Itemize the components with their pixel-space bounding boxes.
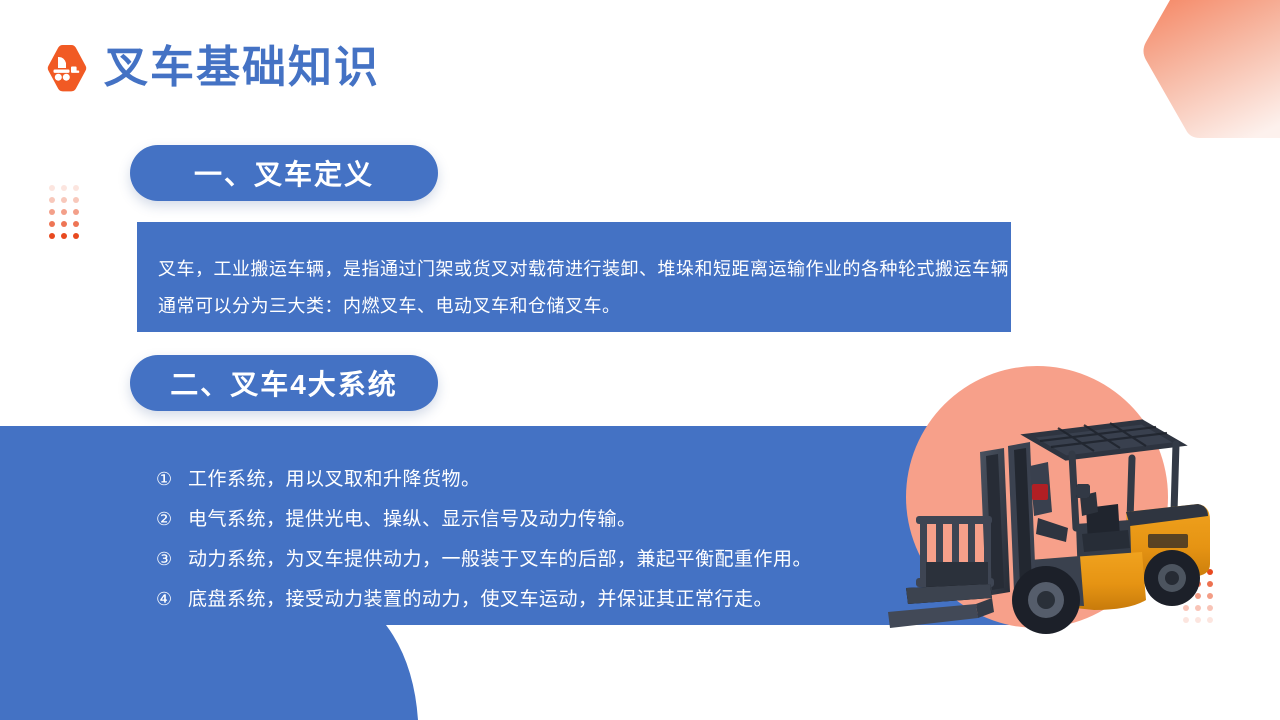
- list-item-label: 电气系统，提供光电、操纵、显示信号及动力传输。: [188, 504, 637, 531]
- definition-line-2: 通常可以分为三大类：内燃叉车、电动叉车和仓储叉车。: [158, 288, 1011, 325]
- list-marker: ①: [156, 469, 188, 490]
- hexagon-decoration-icon: [1126, 0, 1280, 150]
- definition-line-1: 叉车，工业搬运车辆，是指通过门架或货叉对载荷进行装卸、堆垛和短距离运输作业的各种…: [158, 251, 1011, 288]
- slide-canvas: 叉车基础知识 一、叉车定义 叉车，工业搬运车辆，是指通过门架或货叉对载荷进行装卸…: [0, 0, 1280, 720]
- list-marker: ④: [156, 589, 188, 610]
- section-heading-1[interactable]: 一、叉车定义: [130, 145, 438, 201]
- definition-paragraph: 叉车，工业搬运车辆，是指通过门架或货叉对载荷进行装卸、堆垛和短距离运输作业的各种…: [158, 251, 1011, 325]
- list-item-label: 工作系统，用以叉取和升降货物。: [188, 464, 481, 491]
- systems-list: ① 工作系统，用以叉取和升降货物。 ② 电气系统，提供光电、操纵、显示信号及动力…: [156, 464, 812, 624]
- list-item: ④ 底盘系统，接受动力装置的动力，使叉车运动，并保证其正常行走。: [156, 584, 812, 624]
- section-body-2: ① 工作系统，用以叉取和升降货物。 ② 电气系统，提供光电、操纵、显示信号及动力…: [0, 426, 1012, 720]
- forklift-hexagon-icon: [42, 44, 90, 92]
- list-marker: ③: [156, 549, 188, 570]
- list-item: ② 电气系统，提供光电、操纵、显示信号及动力传输。: [156, 504, 812, 544]
- dot-grid-right: [1180, 566, 1216, 626]
- section-heading-2-label: 二、叉车4大系统: [170, 363, 398, 403]
- list-item: ① 工作系统，用以叉取和升降货物。: [156, 464, 812, 504]
- section-heading-1-label: 一、叉车定义: [194, 153, 374, 193]
- page-title: 叉车基础知识: [104, 46, 380, 90]
- list-item-label: 动力系统，为叉车提供动力，一般装于叉车的后部，兼起平衡配重作用。: [188, 544, 812, 571]
- list-marker: ②: [156, 509, 188, 530]
- section-heading-2[interactable]: 二、叉车4大系统: [130, 355, 438, 411]
- list-item-label: 底盘系统，接受动力装置的动力，使叉车运动，并保证其正常行走。: [188, 584, 773, 611]
- slide-header: 叉车基础知识: [42, 44, 380, 92]
- section-body-1: 叉车，工业搬运车辆，是指通过门架或货叉对载荷进行装卸、堆垛和短距离运输作业的各种…: [137, 222, 1011, 332]
- list-item: ③ 动力系统，为叉车提供动力，一般装于叉车的后部，兼起平衡配重作用。: [156, 544, 812, 584]
- dot-grid-left: [46, 182, 82, 242]
